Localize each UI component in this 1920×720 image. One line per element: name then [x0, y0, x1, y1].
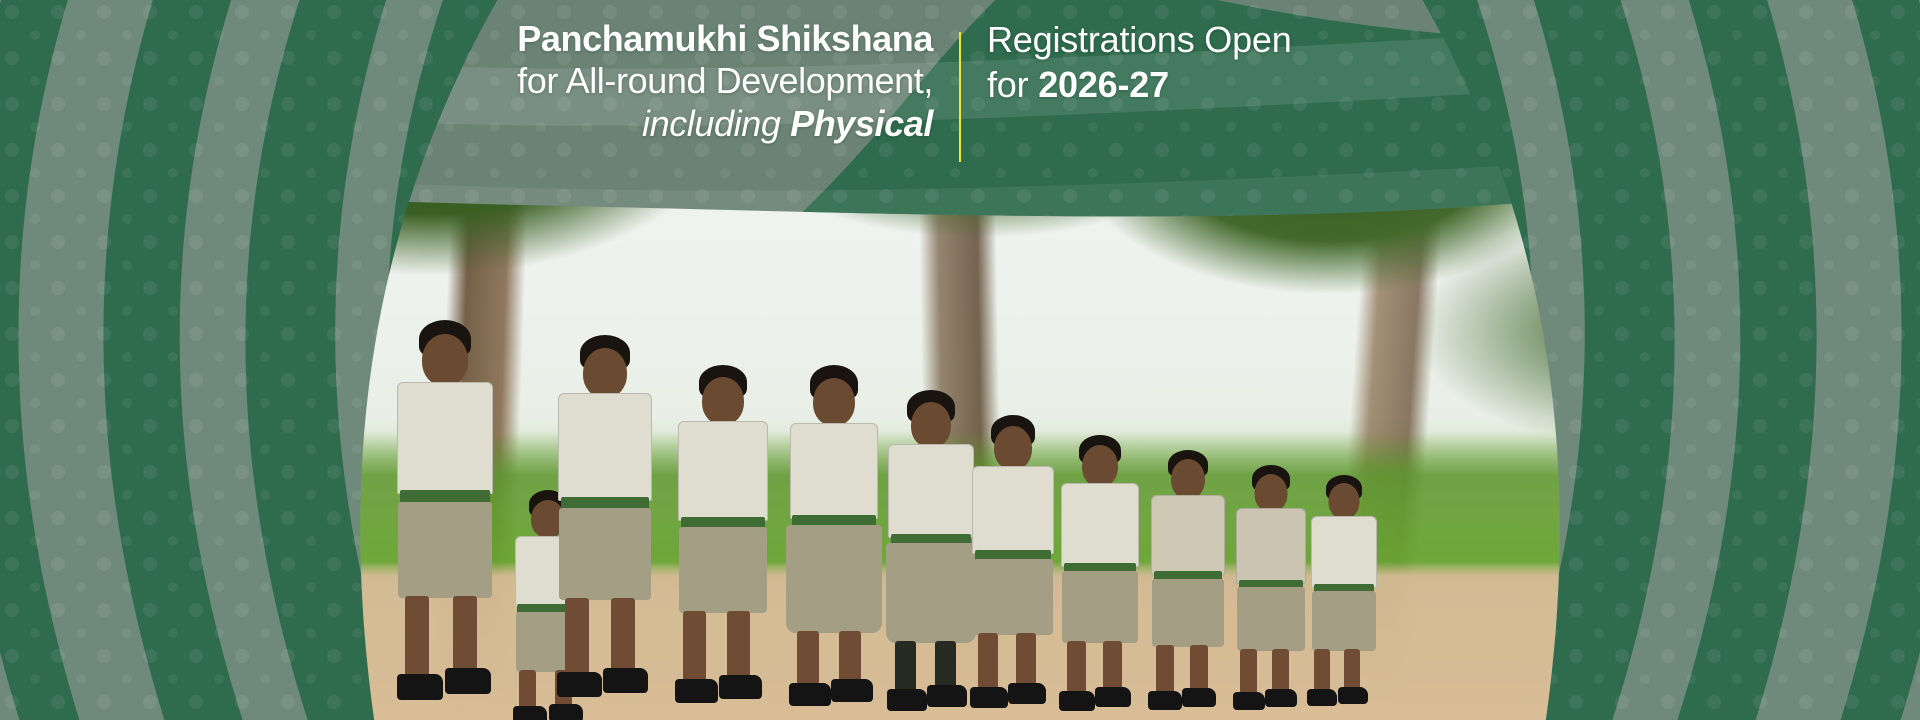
child-figure	[385, 320, 505, 720]
registration-line-1: Registrations Open	[987, 18, 1581, 63]
headline-line-3: including Physical	[339, 103, 933, 145]
hero-banner: Panchamukhi Shikshana for All-round Deve…	[0, 0, 1920, 720]
headline-line-2: for All-round Development,	[339, 60, 933, 102]
child-figure	[545, 335, 665, 720]
child-figure	[665, 365, 781, 720]
headline-text: Panchamukhi Shikshana for All-round Deve…	[339, 18, 959, 145]
registration-line-2-prefix: for	[987, 64, 1038, 105]
registration-year-badge: 2026-27	[1038, 64, 1169, 105]
registration-text: Registrations Open for 2026-27	[961, 18, 1581, 107]
headline-copy-block: Panchamukhi Shikshana for All-round Deve…	[0, 0, 1920, 200]
headline-line-1: Panchamukhi Shikshana	[339, 18, 933, 60]
child-figure	[1140, 450, 1236, 720]
child-figure	[1050, 435, 1150, 720]
registration-line-2: for 2026-27	[987, 63, 1581, 108]
child-figure	[240, 400, 350, 720]
headline-line-3-italic: including	[642, 103, 790, 144]
headline-line-3-bold: Physical	[790, 103, 933, 144]
child-figure	[1300, 475, 1388, 720]
